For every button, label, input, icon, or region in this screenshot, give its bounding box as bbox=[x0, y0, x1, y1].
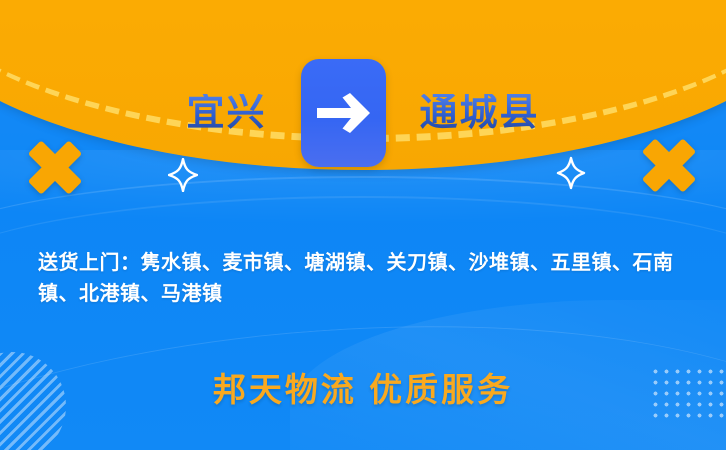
slogan-text: 邦天物流 优质服务 bbox=[0, 363, 726, 411]
delivery-towns-text: 送货上门：隽水镇、麦市镇、塘湖镇、关刀镇、沙堆镇、五里镇、石南镇、北港镇、马港镇 bbox=[38, 248, 698, 310]
logistics-route-banner: 宜兴 通城县 送货上门：隽水镇、麦市镇、塘湖镇、关刀镇、沙堆镇、五里镇、石南镇、… bbox=[0, 0, 726, 450]
origin-city: 宜兴 bbox=[186, 94, 266, 132]
route-row: 宜兴 通城县 bbox=[0, 55, 726, 170]
arrow-right-icon bbox=[301, 59, 386, 167]
destination-city: 通城县 bbox=[420, 94, 540, 132]
